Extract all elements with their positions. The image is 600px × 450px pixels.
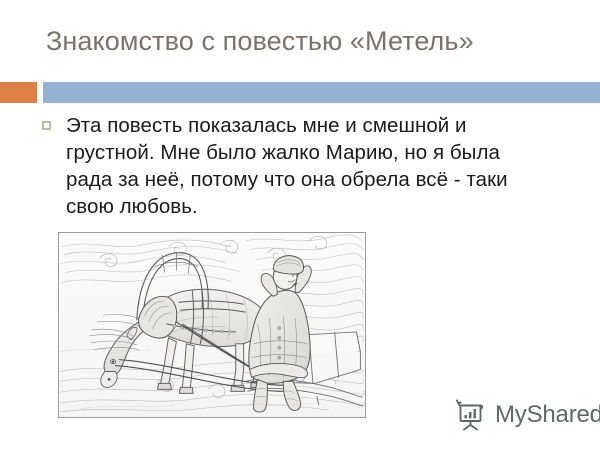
slide-illustration bbox=[58, 232, 366, 418]
body-line: Эта повесть показалась мне и смешной и bbox=[66, 112, 580, 139]
myshared-label: MyShared bbox=[495, 403, 600, 427]
presentation-slide: Знакомство с повестью «Метель» Эта повес… bbox=[0, 0, 600, 450]
body-paragraph: Эта повесть показалась мне и смешной и г… bbox=[66, 112, 580, 220]
square-bullet-icon bbox=[42, 121, 51, 130]
body-content: Эта повесть показалась мне и смешной и г… bbox=[40, 112, 580, 220]
page-title: Знакомство с повестью «Метель» bbox=[46, 24, 576, 58]
blizzard-sketch-icon bbox=[59, 233, 365, 417]
list-item: Эта повесть показалась мне и смешной и г… bbox=[40, 112, 580, 220]
myshared-watermark: MyShared bbox=[454, 398, 600, 432]
divider-bar bbox=[43, 82, 600, 103]
divider-accent-block bbox=[0, 82, 37, 103]
body-line: свою любовь. bbox=[66, 193, 580, 220]
body-line: рада за неё, потому что она обрела всё -… bbox=[66, 166, 580, 193]
title-divider bbox=[0, 82, 600, 103]
body-line: грустной. Мне было жалко Марию, но я был… bbox=[66, 139, 580, 166]
flipchart-bar-chart-icon bbox=[454, 398, 488, 432]
